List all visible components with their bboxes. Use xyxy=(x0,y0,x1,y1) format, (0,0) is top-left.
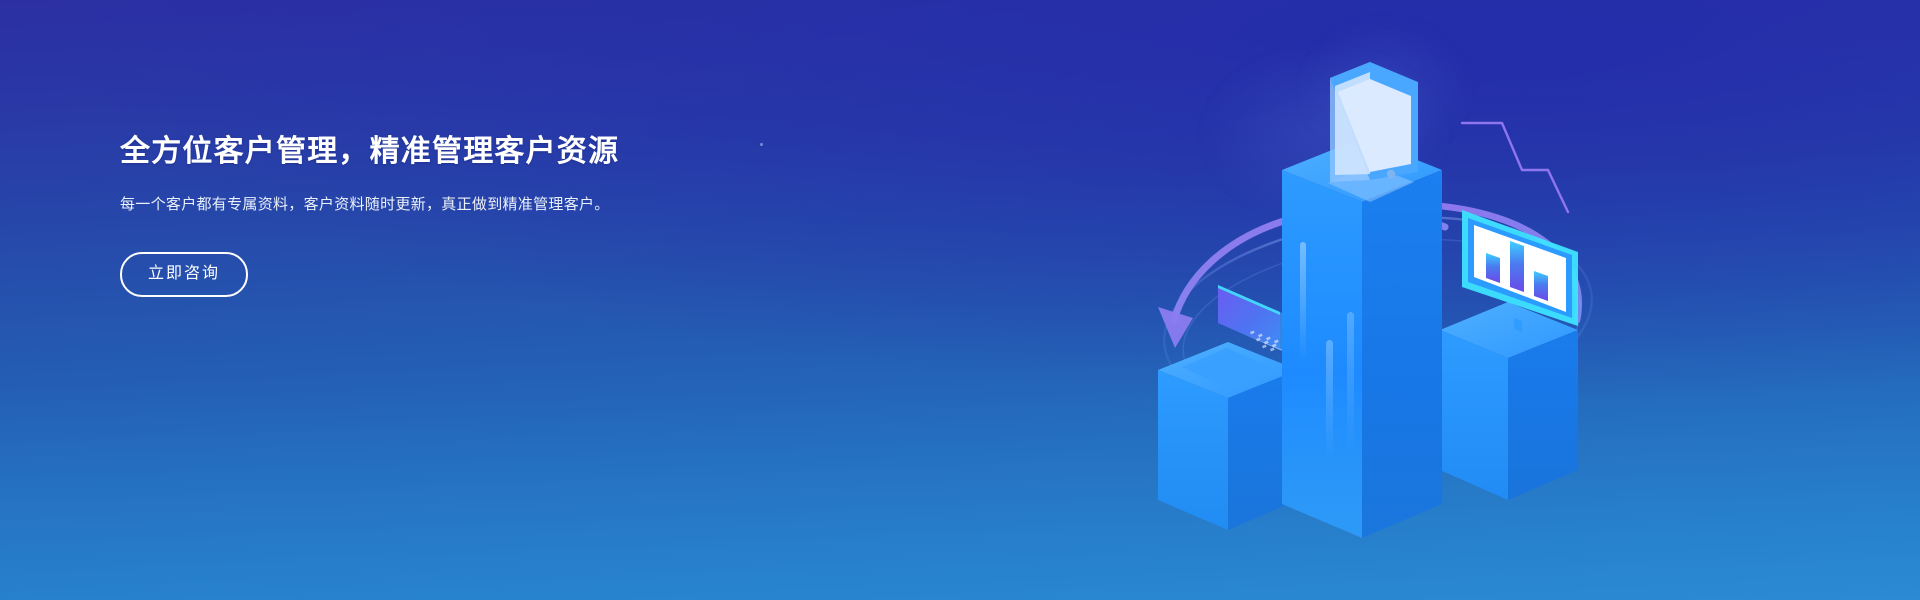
hero-subtitle: 每一个客户都有专属资料，客户资料随时更新，真正做到精准管理客户。 xyxy=(120,193,610,216)
hero-banner: 全方位客户管理，精准管理客户资源 每一个客户都有专属资料，客户资料随时更新，真正… xyxy=(0,0,1920,600)
hero-copy-block: 全方位客户管理，精准管理客户资源 每一个客户都有专属资料，客户资料随时更新，真正… xyxy=(120,133,760,297)
right-pedestal xyxy=(1440,302,1578,500)
zigzag-line-icon xyxy=(1462,123,1568,212)
hero-illustration xyxy=(1130,30,1610,570)
bottom-light-overlay xyxy=(0,390,1920,600)
tablet-device-icon xyxy=(1328,62,1418,202)
sparkle-dot-icon xyxy=(760,143,763,146)
consult-now-button[interactable]: 立即咨询 xyxy=(120,252,248,297)
page-title: 全方位客户管理，精准管理客户资源 xyxy=(120,133,760,171)
